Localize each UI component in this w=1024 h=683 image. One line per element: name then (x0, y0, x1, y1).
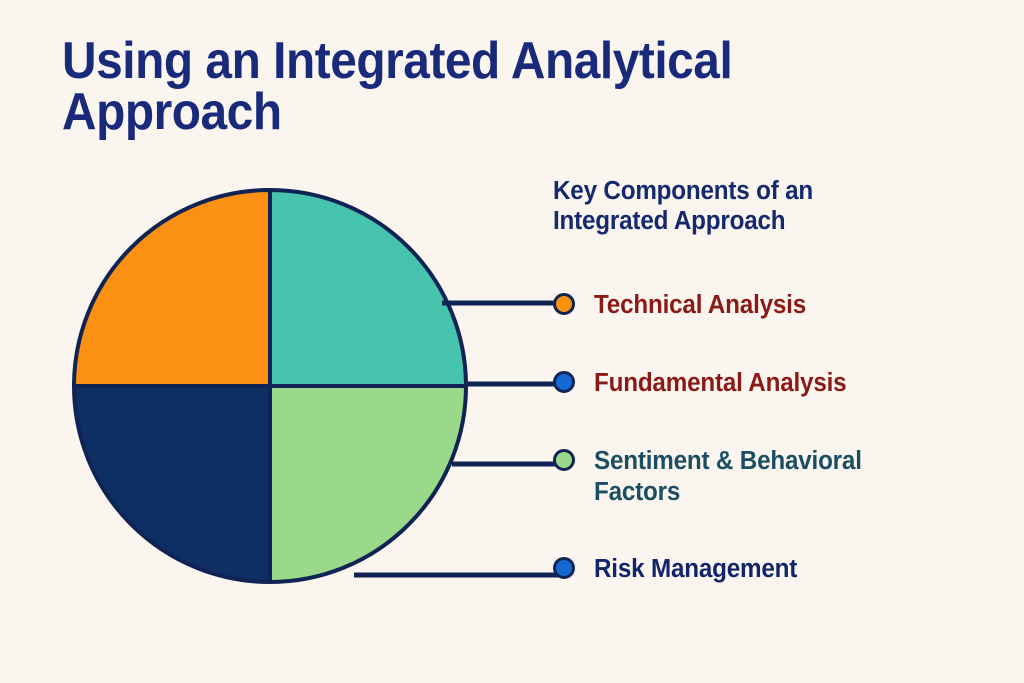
pie-chart-svg (72, 188, 472, 588)
pie-chart (72, 188, 472, 588)
legend-heading: Key Components of an Integrated Approach (553, 176, 981, 236)
legend-marker-icon-fundamental-analysis (553, 371, 575, 393)
page-title: Using an Integrated Analytical Approach (62, 36, 798, 138)
infographic-canvas: Using an Integrated Analytical Approach … (0, 0, 1024, 683)
legend-item-technical-analysis[interactable]: Technical Analysis (553, 290, 817, 321)
pie-slice-fundamental-analysis[interactable] (270, 190, 466, 386)
pie-slice-risk-management[interactable] (74, 386, 270, 582)
legend-label-risk-management: Risk Management (594, 554, 797, 585)
pie-slice-technical-analysis[interactable] (74, 190, 270, 386)
legend-label-sentiment-behavioral-factors: Sentiment & Behavioral Factors (594, 446, 862, 507)
legend-marker-icon-sentiment-behavioral-factors (553, 449, 575, 471)
legend-item-risk-management[interactable]: Risk Management (553, 554, 808, 585)
legend-item-sentiment-behavioral-factors[interactable]: Sentiment & Behavioral Factors (553, 446, 876, 507)
legend-marker-icon-technical-analysis (553, 293, 575, 315)
legend-label-fundamental-analysis: Fundamental Analysis (594, 368, 846, 399)
legend-item-fundamental-analysis[interactable]: Fundamental Analysis (553, 368, 860, 399)
legend: Key Components of an Integrated Approach… (553, 176, 1003, 236)
legend-label-technical-analysis: Technical Analysis (594, 290, 806, 321)
legend-marker-icon-risk-management (553, 557, 575, 579)
pie-slice-sentiment-behavioral-factors[interactable] (270, 386, 466, 582)
